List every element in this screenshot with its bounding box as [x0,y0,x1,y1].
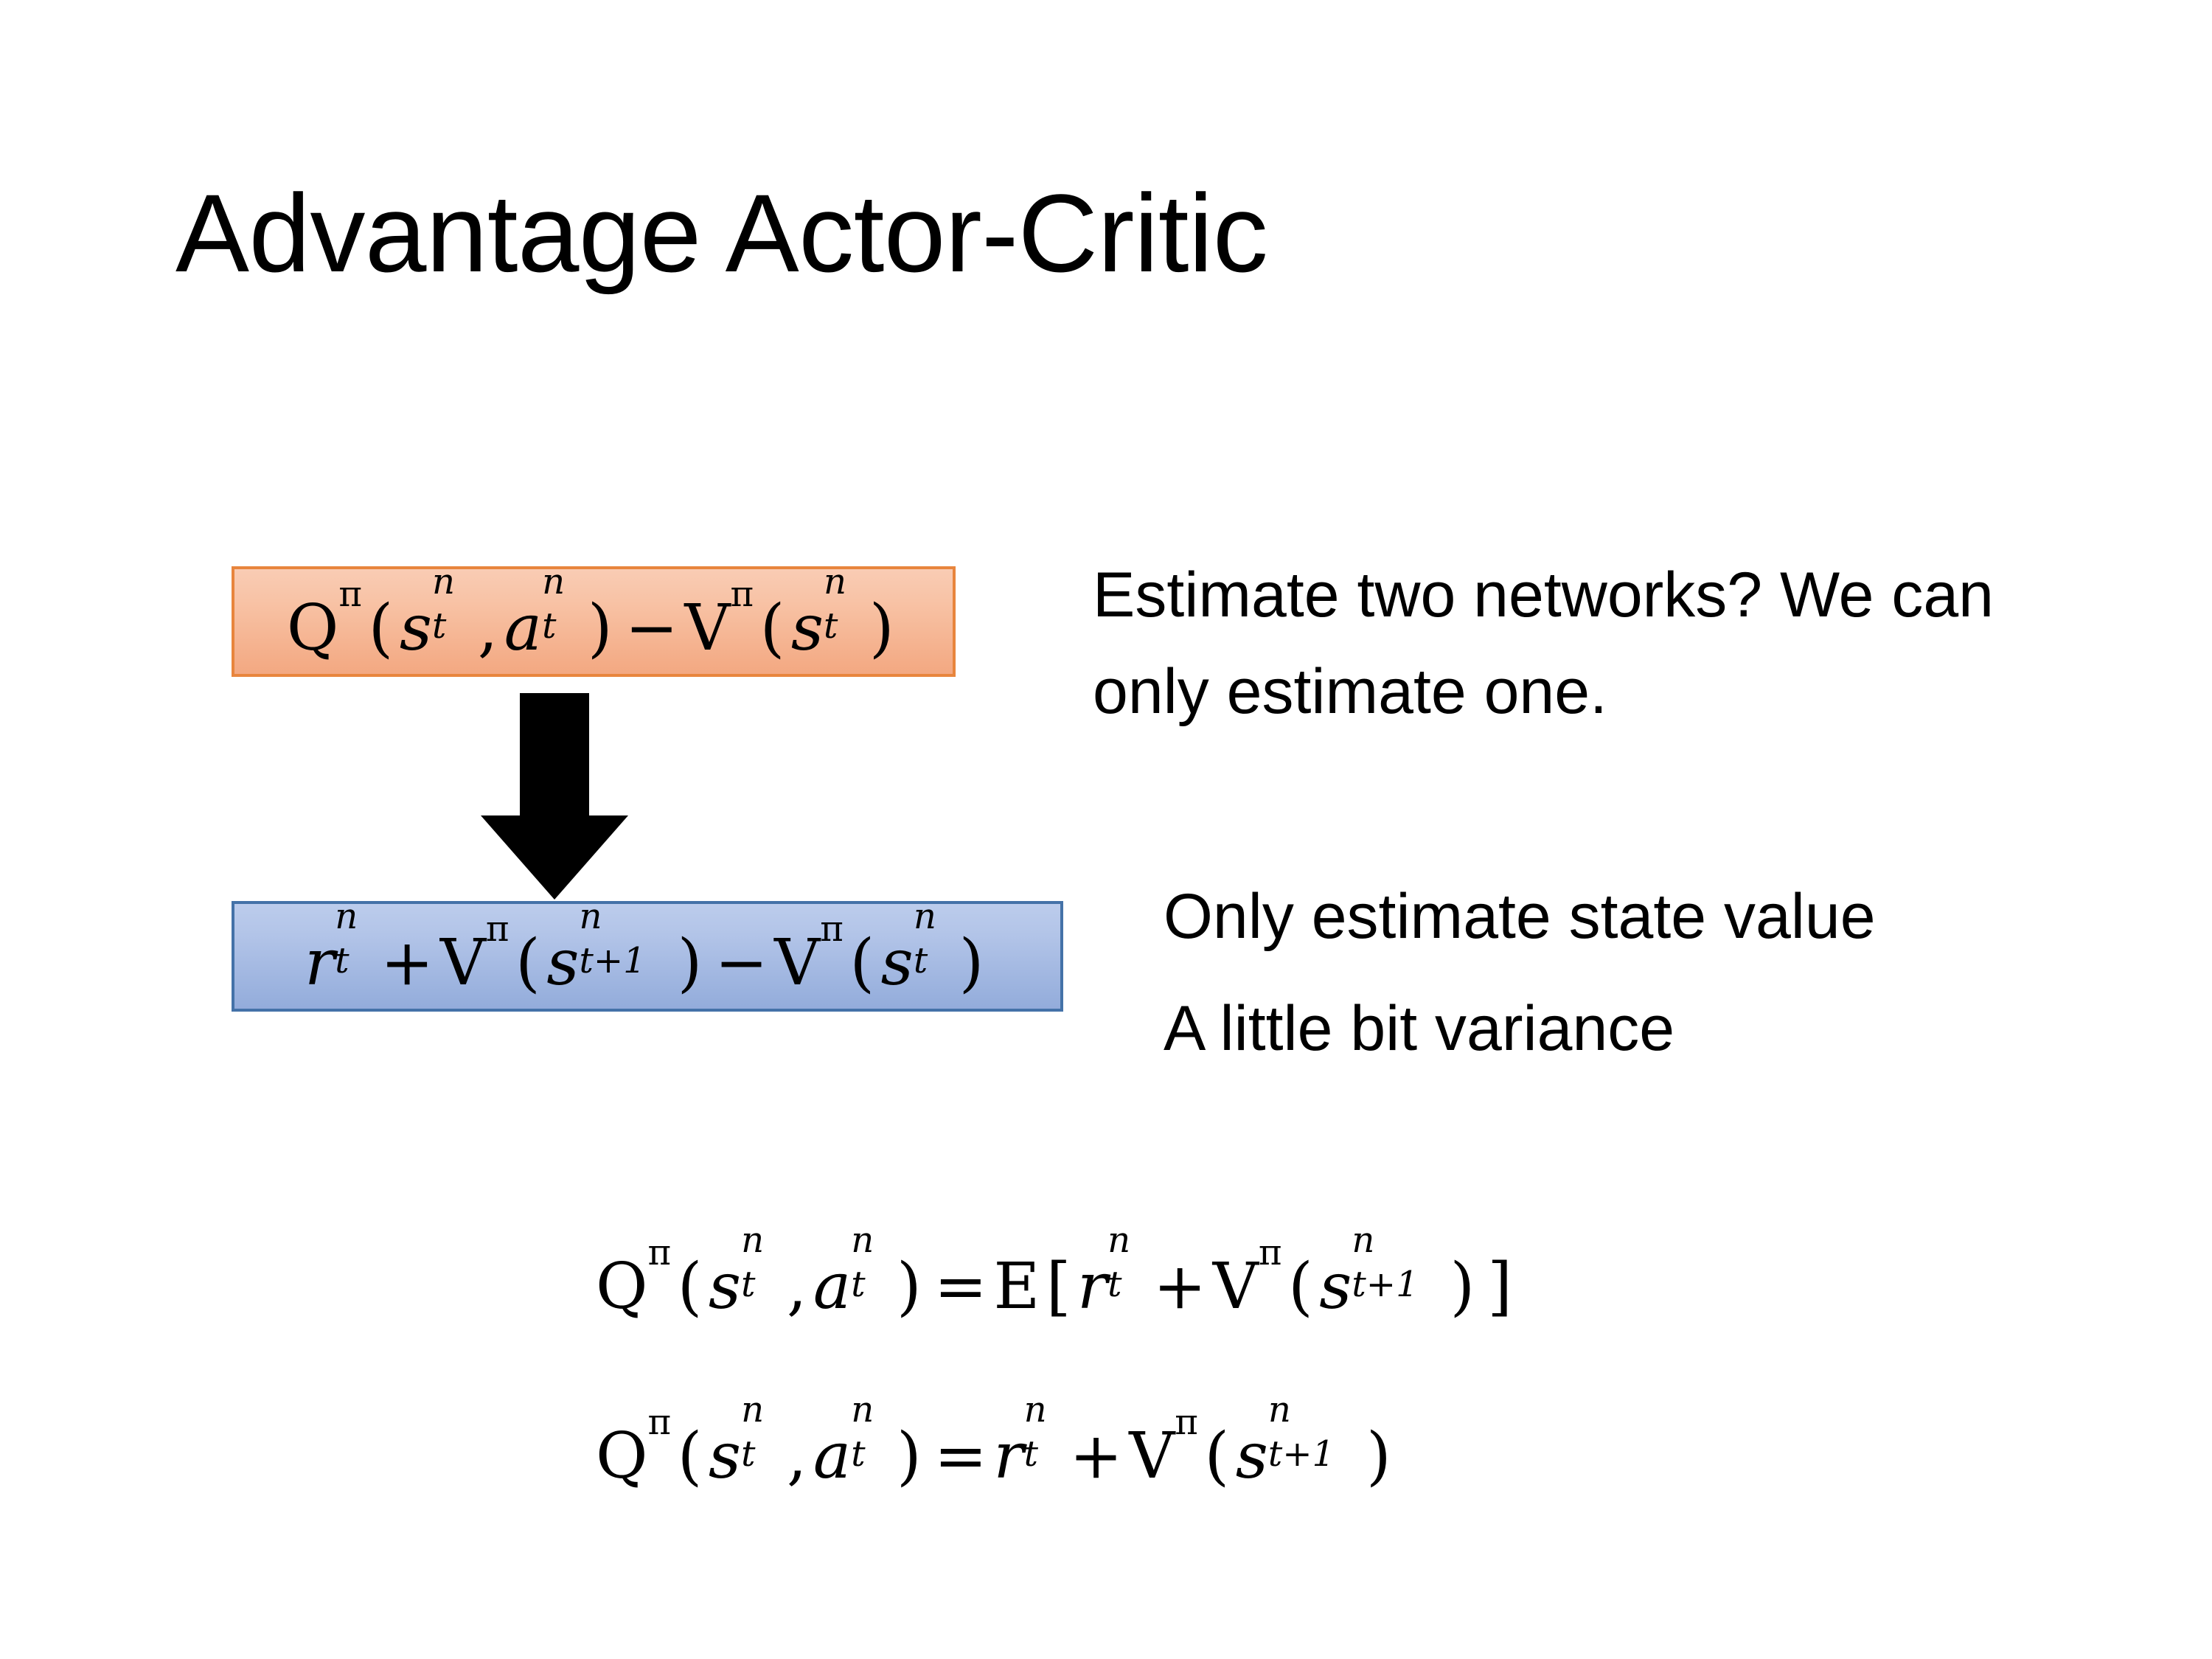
page-title: Advantage Actor-Critic [175,171,1267,295]
eq-token-a-indices: nt [851,1414,890,1478]
eq-token-plus: + [1147,1250,1212,1324]
eq-token-rparen-2: ) [1444,1250,1481,1324]
eq-token-a: a [813,1250,851,1324]
eq-token-rparen-2: ) [1360,1419,1398,1493]
eq-token-lparen-2: ( [754,591,791,665]
eq-token-pi-sup-2: π [731,591,754,665]
eq-token-s: s [709,1250,741,1324]
note-only-estimate-state-value: Only estimate state value [1164,869,2122,965]
eq-token-lparen: ( [671,1250,709,1324]
eq-token-pi-sup-2: π [1259,1250,1282,1324]
eq-token-r: r [305,926,335,1000]
eq-token-lparen-2: ( [1198,1419,1236,1493]
eq-token-lparen: ( [509,926,547,1000]
eq-token-s-indices: nt [432,586,471,650]
eq-token-a-indices: nt [851,1245,890,1308]
eq-token-s: s [400,591,432,665]
eq-token-s-2: s [1319,1250,1352,1324]
eq-token-comma: , [471,591,504,665]
eq-token-s-indices-tplus1: nt+1 [1352,1245,1444,1308]
eq-token-Q: Q [596,1250,648,1324]
eq-token-s-2: s [791,591,824,665]
eq-token-rbracket: ] [1481,1250,1519,1324]
eq-token-V: V [440,926,486,1000]
eq-token-a: a [504,591,542,665]
eq-token-s-indices-tplus1: nt+1 [579,921,671,984]
eq-token-lparen: ( [362,591,400,665]
eq-token-pi-sup: π [648,1419,672,1493]
slide-canvas: Advantage Actor-Critic Qπ(snt,ant)−Vπ(sn… [0,0,2212,1659]
eq-token-lparen-2: ( [844,926,881,1000]
eq-token-s-indices-2: nt [914,921,953,984]
eq-token-rparen: ) [581,591,619,665]
eq-token-s-indices-tplus1: nt+1 [1268,1414,1360,1478]
eq-token-E: E [994,1250,1040,1324]
eq-token-r-indices: nt [1107,1245,1147,1308]
eq-token-r: r [1077,1250,1107,1324]
eq-token-plus: + [375,926,440,1000]
eq-token-V: V [1213,1250,1259,1324]
advantage-equation: Qπ(snt,ant)−Vπ(snt) [287,586,900,660]
eq-token-r-indices: nt [1024,1414,1063,1478]
eq-token-Q: Q [287,591,339,665]
eq-token-a: a [813,1419,851,1493]
eq-token-rparen-2: ) [863,591,900,665]
eq-token-rparen: ) [671,926,709,1000]
eq-token-a-indices: nt [542,586,581,650]
eq-token-pi-sup-2: π [1175,1419,1198,1493]
eq-token-minus: − [709,926,774,1000]
eq-token-V-2: V [774,926,820,1000]
eq-token-pi-sup: π [338,591,362,665]
eq-token-pi-sup: π [648,1250,672,1324]
eq-token-Q: Q [596,1419,648,1493]
down-arrow-icon [481,693,628,900]
eq-token-r: r [994,1419,1024,1493]
eq-token-s: s [709,1419,741,1493]
eq-token-V: V [684,591,730,665]
eq-token-s-2: s [881,926,914,1000]
td-error-equation: rnt+Vπ(snt+1)−Vπ(snt) [305,921,990,995]
eq-token-equals: = [928,1250,993,1324]
eq-token-pi-sup-2: π [820,926,844,1000]
eq-token-comma: , [780,1250,813,1324]
eq-token-r-indices: nt [335,921,374,984]
eq-token-pi-sup: π [486,926,509,1000]
eq-token-plus: + [1063,1419,1129,1493]
eq-token-s-indices: nt [741,1414,780,1478]
note-estimate-two-networks: Estimate two networks? We can only estim… [1093,547,2051,740]
eq-token-comma: , [780,1419,813,1493]
bellman-expectation-equation: Qπ(snt,ant)=E[rnt+Vπ(snt+1)] [596,1245,1519,1318]
eq-token-rparen: ) [891,1250,928,1324]
eq-token-lparen: ( [671,1419,709,1493]
orange-equation-box: Qπ(snt,ant)−Vπ(snt) [232,566,956,677]
eq-token-minus: − [619,591,684,665]
eq-token-V: V [1129,1419,1175,1493]
eq-token-s-indices: nt [741,1245,780,1308]
eq-token-rparen: ) [891,1419,928,1493]
eq-token-s-2: s [1236,1419,1268,1493]
eq-token-s-indices-2: nt [824,586,863,650]
eq-token-lbracket: [ [1040,1250,1077,1324]
bellman-sample-equation: Qπ(snt,ant)=rnt+Vπ(snt+1) [596,1414,1397,1488]
eq-token-s: s [546,926,579,1000]
note-a-little-bit-variance: A little bit variance [1164,981,2122,1077]
eq-token-lparen-2: ( [1281,1250,1319,1324]
eq-token-rparen-2: ) [953,926,990,1000]
eq-token-equals: = [928,1419,993,1493]
blue-equation-box: rnt+Vπ(snt+1)−Vπ(snt) [232,901,1063,1012]
